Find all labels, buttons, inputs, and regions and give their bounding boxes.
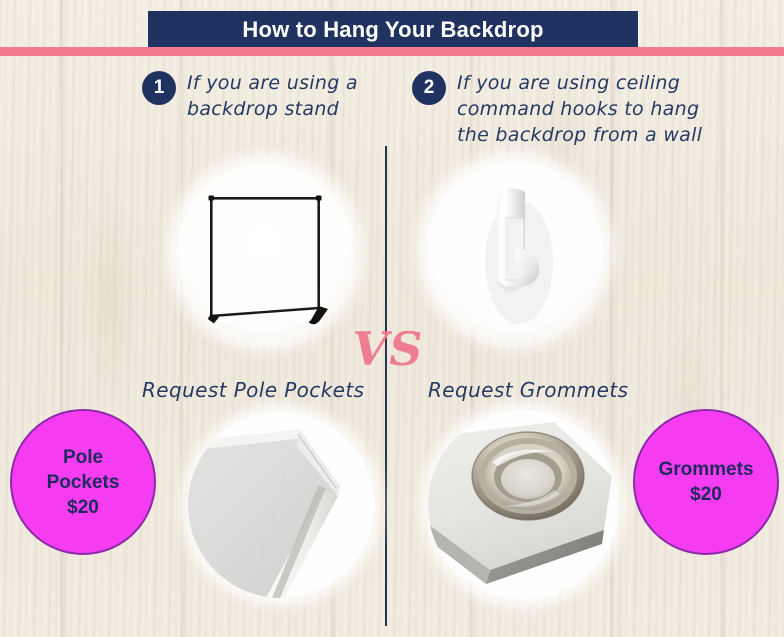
infographic-canvas: How to Hang Your Backdrop 1 If you are u… <box>0 0 784 637</box>
step-1-number-badge: 1 <box>142 71 176 105</box>
step-1-block: 1 If you are using a backdrop stand <box>142 70 382 122</box>
step-2-block: 2 If you are using ceiling command hooks… <box>412 70 722 148</box>
page-title-bar: How to Hang Your Backdrop <box>148 11 638 48</box>
caption-grommets: Request Grommets <box>428 378 628 402</box>
header-accent-rule <box>0 47 784 56</box>
grommet-fabric-photo <box>428 410 618 600</box>
pole-pocket-fabric-photo <box>188 412 374 598</box>
step-1-text: If you are using a backdrop stand <box>187 70 382 122</box>
command-hook-photo <box>427 162 603 338</box>
price-badge-grommets-label: Grommets $20 <box>658 457 753 507</box>
vertical-divider <box>385 146 387 626</box>
price-badge-grommets[interactable]: Grommets $20 <box>633 409 779 555</box>
price-badge-pole-pockets[interactable]: Pole Pockets $20 <box>10 409 156 555</box>
caption-pole-pockets: Request Pole Pockets <box>142 378 364 402</box>
price-badge-pole-pockets-label: Pole Pockets $20 <box>47 445 120 520</box>
step-2-number-badge: 2 <box>412 71 446 105</box>
vs-label: VS <box>340 326 436 372</box>
backdrop-stand-photo <box>177 164 353 340</box>
step-2-text: If you are using ceiling command hooks t… <box>457 70 722 148</box>
page-title: How to Hang Your Backdrop <box>242 17 543 43</box>
